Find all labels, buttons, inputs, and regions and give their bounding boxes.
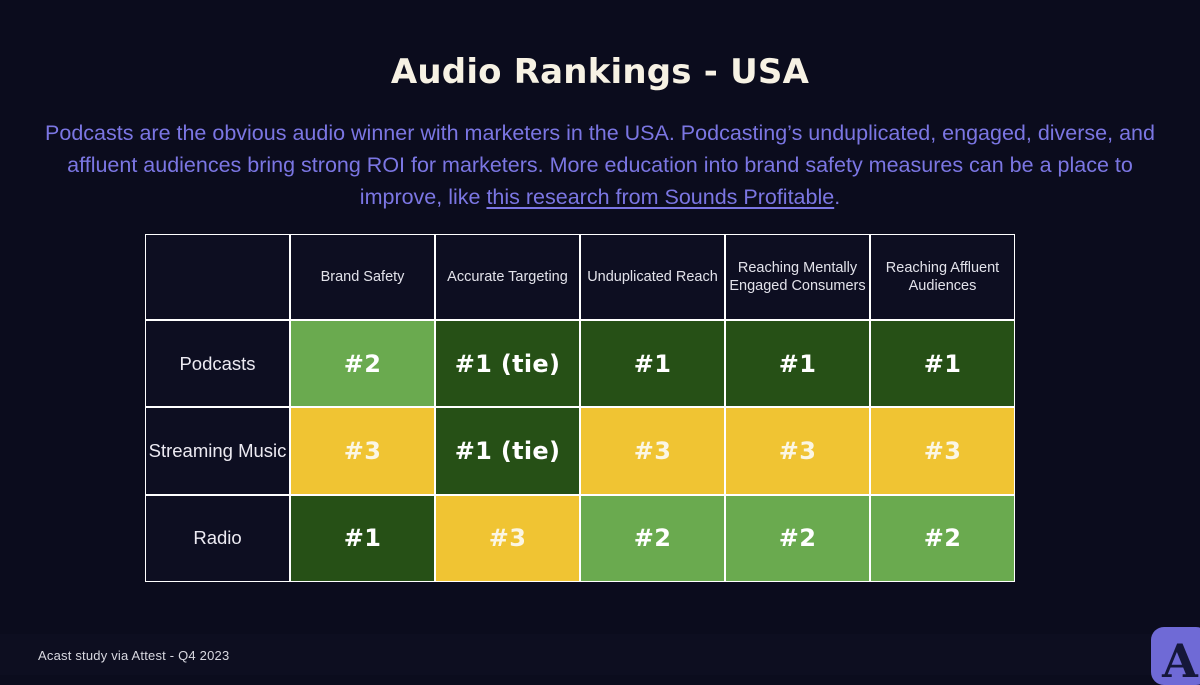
svg-text:A: A	[1161, 634, 1199, 685]
rank-cell: #2	[725, 495, 870, 582]
row-label-streaming-music: Streaming Music	[145, 407, 290, 494]
rank-cell: #3	[580, 407, 725, 494]
rank-cell: #2	[870, 495, 1015, 582]
table-row: Streaming Music#3#1 (tie)#3#3#3	[145, 407, 1015, 494]
rank-cell: #1	[725, 320, 870, 407]
acast-logo-icon: A	[1151, 627, 1200, 685]
audio-rankings-table-container: Brand SafetyAccurate TargetingUnduplicat…	[145, 234, 1015, 582]
row-label-radio: Radio	[145, 495, 290, 582]
subtitle-paragraph: Podcasts are the obvious audio winner wi…	[34, 117, 1166, 213]
source-citation: Acast study via Attest - Q4 2023	[38, 648, 229, 663]
rank-cell: #2	[290, 320, 435, 407]
column-header-brand-safety: Brand Safety	[290, 234, 435, 320]
table-row: Podcasts#2#1 (tie)#1#1#1	[145, 320, 1015, 407]
rank-cell: #2	[580, 495, 725, 582]
page-title: Audio Rankings - USA	[0, 50, 1200, 94]
audio-rankings-table: Brand SafetyAccurate TargetingUnduplicat…	[145, 234, 1015, 582]
column-header-accurate-targeting: Accurate Targeting	[435, 234, 580, 320]
rank-cell: #3	[435, 495, 580, 582]
rank-cell: #3	[725, 407, 870, 494]
subtitle-text-after-link: .	[834, 185, 840, 209]
table-row: Radio#1#3#2#2#2	[145, 495, 1015, 582]
slide-canvas: Audio Rankings - USA Podcasts are the ob…	[0, 0, 1200, 675]
column-header-unduplicated-reach: Unduplicated Reach	[580, 234, 725, 320]
rank-cell: #3	[870, 407, 1015, 494]
row-label-podcasts: Podcasts	[145, 320, 290, 407]
rank-cell: #1 (tie)	[435, 320, 580, 407]
column-header-reaching-mentally-engaged-consumers: Reaching Mentally Engaged Consumers	[725, 234, 870, 320]
column-header-reaching-affluent-audiences: Reaching Affluent Audiences	[870, 234, 1015, 320]
rank-cell: #1	[580, 320, 725, 407]
table-header-row: Brand SafetyAccurate TargetingUnduplicat…	[145, 234, 1015, 320]
table-corner-cell	[145, 234, 290, 320]
sounds-profitable-research-link[interactable]: this research from Sounds Profitable	[486, 185, 834, 209]
rank-cell: #1 (tie)	[435, 407, 580, 494]
rank-cell: #1	[290, 495, 435, 582]
rank-cell: #1	[870, 320, 1015, 407]
rank-cell: #3	[290, 407, 435, 494]
